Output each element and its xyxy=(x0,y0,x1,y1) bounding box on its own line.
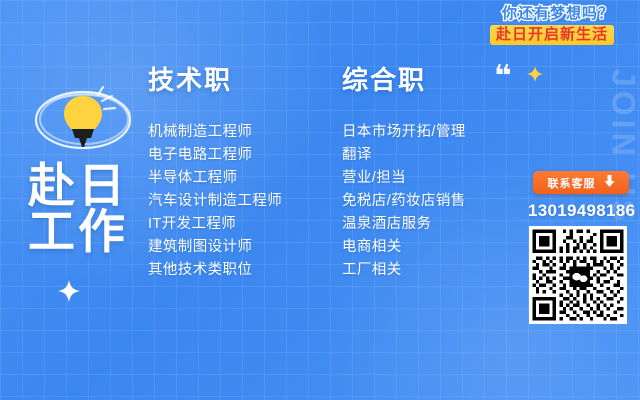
qr-code[interactable] xyxy=(529,226,627,324)
slogan-line-2-pill: 赴日开启新生活 xyxy=(490,25,614,45)
column-general-list: 日本市场开拓/管理 翻译 营业/担当 免税店/药妆店销售 温泉酒店服务 电商相关… xyxy=(342,121,542,282)
column-technical-heading: 技术职 xyxy=(148,60,338,97)
slogan-line-1: 你还有梦想吗？ xyxy=(490,6,614,21)
list-item: 温泉酒店服务 xyxy=(342,213,542,236)
column-general-heading: 综合职 xyxy=(342,60,542,97)
brand-title-line-2: 工作 xyxy=(28,209,148,255)
list-item: 免税店/药妆店销售 xyxy=(342,190,542,213)
list-item: 其他技术类职位 xyxy=(148,259,338,282)
column-technical: 技术职 机械制造工程师 电子电路工程师 半导体工程师 汽车设计制造工程师 IT开… xyxy=(148,60,338,282)
slogan-line-2: 赴日开启新生活 xyxy=(496,27,608,42)
list-item: 电子电路工程师 xyxy=(148,144,338,167)
list-item: 电商相关 xyxy=(342,236,542,259)
promo-banner: JOIN US 你还有梦想吗？ 赴日开启新生活 赴日 工作 xyxy=(0,0,640,400)
list-item: 汽车设计制造工程师 xyxy=(148,190,338,213)
list-item: 日本市场开拓/管理 xyxy=(342,121,542,144)
contact-phone-number: 13019498186 xyxy=(528,201,634,221)
slogan-block: 你还有梦想吗？ 赴日开启新生活 xyxy=(490,6,614,45)
arrow-down-icon xyxy=(604,174,615,192)
contact-support-label: 联系客服 xyxy=(548,175,596,191)
sparkle-star-icon xyxy=(58,280,80,302)
contact-support-button[interactable]: 联系客服 xyxy=(533,171,629,194)
list-item: 翻译 xyxy=(342,144,542,167)
column-general: 综合职 日本市场开拓/管理 翻译 营业/担当 免税店/药妆店销售 温泉酒店服务 … xyxy=(342,60,542,282)
list-item: 机械制造工程师 xyxy=(148,121,338,144)
four-point-star-icon xyxy=(527,66,543,82)
list-item: IT开发工程师 xyxy=(148,213,338,236)
lightbulb-icon xyxy=(26,72,140,164)
list-item: 营业/担当 xyxy=(342,167,542,190)
list-item: 建筑制图设计师 xyxy=(148,236,338,259)
page-title: 赴日 工作 xyxy=(28,163,148,255)
quote-marks-icon: ❝ xyxy=(494,62,510,92)
list-item: 工厂相关 xyxy=(342,259,542,282)
column-technical-list: 机械制造工程师 电子电路工程师 半导体工程师 汽车设计制造工程师 IT开发工程师… xyxy=(148,121,338,282)
list-item: 半导体工程师 xyxy=(148,167,338,190)
